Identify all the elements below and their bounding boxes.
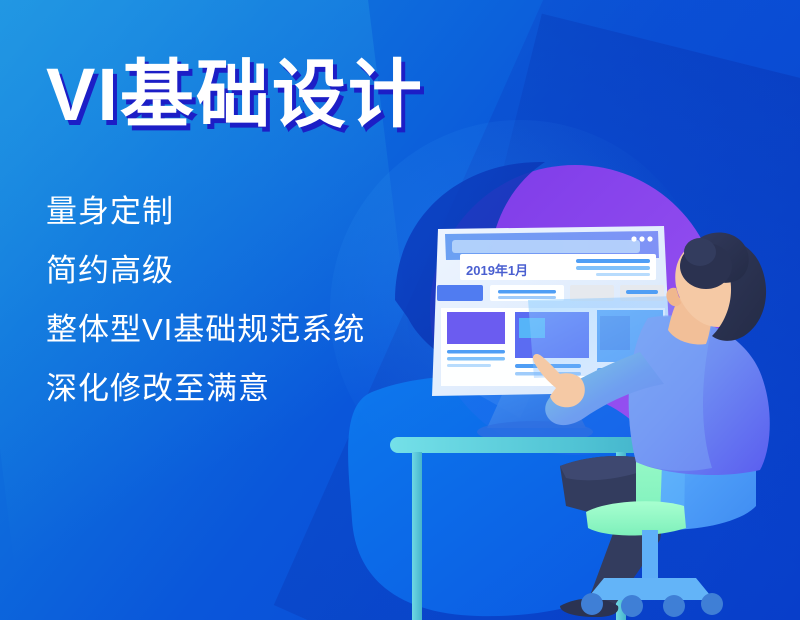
chair-column (642, 530, 658, 578)
chair-wheel-1 (581, 593, 603, 615)
desk-leg-left (412, 452, 422, 620)
toolbar-line-3 (626, 290, 658, 294)
window-dot-1[interactable] (631, 236, 636, 241)
promo-banner: 2019年1月 VI基础设计 量身定制 简约高级 整体型VI基础规范系统 深化修… (0, 0, 800, 620)
search-line-1 (576, 259, 650, 263)
card-left-line-2 (447, 357, 505, 361)
feature-item-3: 整体型VI基础规范系统 (46, 314, 365, 345)
person-hair-bun-top (684, 238, 716, 266)
chair-wheel-3 (663, 595, 685, 617)
feature-list: 量身定制 简约高级 整体型VI基础规范系统 深化修改至满意 (46, 196, 365, 404)
card-left-line-3 (447, 364, 491, 367)
window-dot-3[interactable] (647, 236, 652, 241)
screen-date-label: 2019年1月 (466, 260, 528, 279)
card-left-image[interactable] (447, 312, 505, 344)
window-dot-2[interactable] (639, 236, 644, 241)
toolbar-tab-left[interactable] (437, 285, 483, 301)
search-line-2 (576, 266, 650, 270)
browser-address-bar[interactable] (452, 240, 640, 253)
feature-item-1: 量身定制 (46, 196, 365, 227)
toolbar-line-2 (498, 296, 556, 299)
page-title: VI基础设计 (46, 58, 424, 132)
chair-wheel-2 (621, 595, 643, 617)
chair-wheel-4 (701, 593, 723, 615)
search-line-3 (596, 273, 650, 276)
chair-base (586, 578, 714, 600)
toolbar-line-1 (498, 290, 556, 294)
feature-item-4: 深化修改至满意 (46, 373, 365, 404)
card-left-line-1 (447, 350, 505, 354)
feature-item-2: 简约高级 (46, 255, 365, 286)
